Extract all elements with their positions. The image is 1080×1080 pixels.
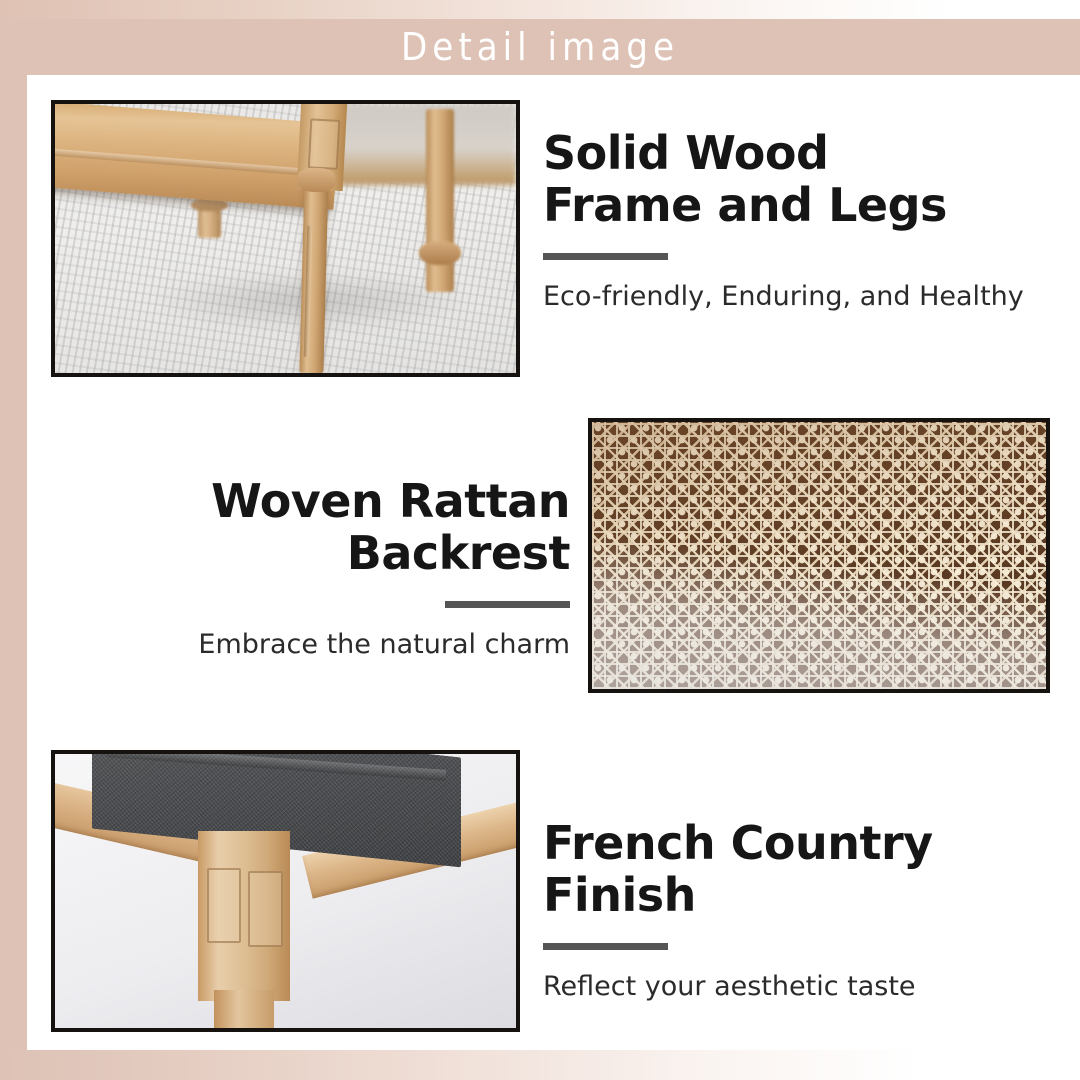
feature-block-solid-wood: Solid WoodFrame and Legs Eco-friendly, E… <box>543 128 1063 314</box>
top-gradient-strip <box>0 0 1080 19</box>
divider-rule <box>445 601 570 608</box>
headline-line-1: Solid Wood <box>543 126 828 180</box>
left-border-band <box>0 75 27 1050</box>
page-title: Detail image <box>0 19 1080 75</box>
carved-corner-post <box>198 831 290 1001</box>
feature-subtitle: Embrace the natural charm <box>40 628 570 662</box>
feature-block-french-country: French Country Finish Reflect your aesth… <box>543 818 1063 1004</box>
chair-leg-right <box>426 109 454 292</box>
detail-image-page: Detail image Solid WoodFrame and Legs Ec… <box>0 0 1080 1080</box>
photo-woven-rattan <box>588 418 1050 693</box>
feature-headline: French Country Finish <box>543 818 1063 921</box>
photo-solid-wood-legs <box>51 100 520 377</box>
chair-leg-front <box>299 174 328 374</box>
divider-rule <box>543 943 668 950</box>
bottom-gradient-strip <box>0 1050 1080 1080</box>
photo-french-country-corner <box>51 750 520 1032</box>
feature-subtitle: Eco-friendly, Enduring, and Healthy <box>543 280 1063 314</box>
headline-line-2: Frame and Legs <box>543 178 947 232</box>
feature-subtitle: Reflect your aesthetic taste <box>543 970 1063 1004</box>
cane-light-shading <box>592 422 1046 689</box>
divider-rule <box>543 253 668 260</box>
feature-block-woven-rattan: Woven Rattan Backrest Embrace the natura… <box>40 476 570 662</box>
feature-headline: Woven Rattan Backrest <box>40 476 570 579</box>
carved-panel-detail <box>308 118 340 169</box>
feature-headline: Solid WoodFrame and Legs <box>543 128 1063 231</box>
tapered-leg-top <box>214 990 274 1032</box>
